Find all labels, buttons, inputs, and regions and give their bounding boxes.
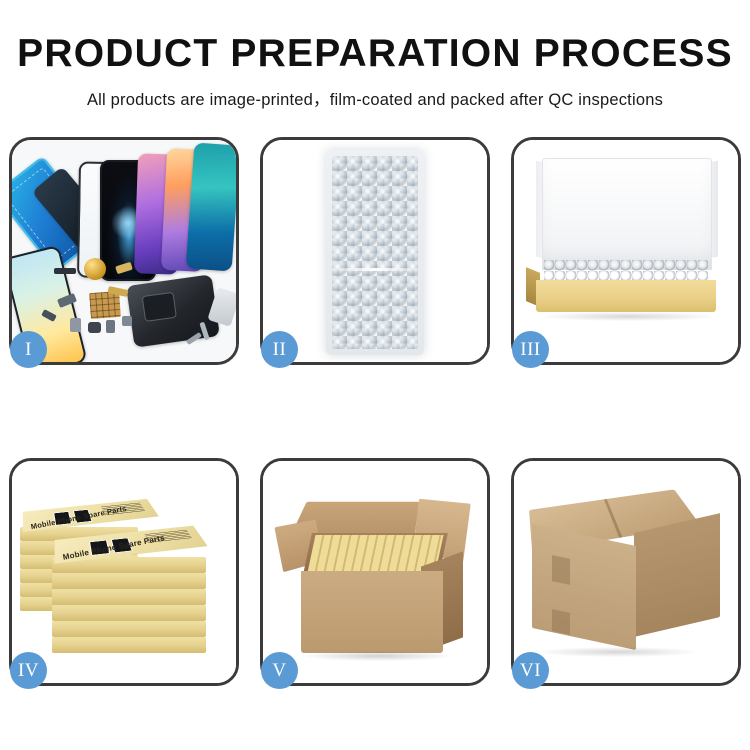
- panel-4-image: Mobile Phone Spare Parts Mobile Phone Sp…: [12, 461, 236, 683]
- phone-parts-illustration: [12, 140, 236, 362]
- sealed-carton-front: [532, 524, 636, 650]
- stacked-box-front-5: [52, 621, 206, 637]
- stacked-box-front-6: [52, 637, 206, 653]
- step-badge-1: I: [10, 331, 47, 368]
- inner-box-lid: [542, 158, 712, 270]
- inner-box-illustration: [514, 140, 738, 362]
- step-badge-4: IV: [10, 652, 47, 689]
- page-header: PRODUCT PREPARATION PROCESS All products…: [0, 0, 750, 110]
- sealed-carton-illustration: [514, 461, 738, 683]
- process-step-grid: I II III: [9, 137, 741, 689]
- step-badge-6: VI: [512, 652, 549, 689]
- carton-top-seam: [604, 499, 623, 538]
- bubble-wrap-illustration: [263, 140, 487, 362]
- carton-front-panel: [301, 571, 443, 653]
- inner-box-shadow: [540, 312, 716, 321]
- process-step-panel-1: I: [9, 137, 239, 365]
- sealed-carton-shadow: [538, 647, 698, 657]
- carton-tape-upper: [552, 555, 570, 585]
- process-step-panel-3: III: [511, 137, 741, 365]
- panel-2-image: [263, 140, 487, 362]
- part-camera-module: [70, 318, 81, 332]
- stacked-box-front-2: [52, 573, 206, 589]
- bubble-texture: [332, 156, 418, 349]
- box-stack-illustration: Mobile Phone Spare Parts Mobile Phone Sp…: [12, 461, 236, 683]
- page-subtitle: All products are image-printed，film-coat…: [0, 76, 750, 110]
- stacked-box-front-3: [52, 589, 206, 605]
- screen-notch: [120, 165, 136, 169]
- pouch-seam: [332, 268, 418, 271]
- part-speaker: [54, 268, 76, 274]
- step-badge-2: II: [261, 331, 298, 368]
- sealed-carton-side: [634, 513, 720, 637]
- page-title: PRODUCT PREPARATION PROCESS: [0, 0, 750, 76]
- process-step-panel-2: II: [260, 137, 490, 365]
- carton-tape-lower: [552, 609, 570, 635]
- process-step-panel-4: Mobile Phone Spare Parts Mobile Phone Sp…: [9, 458, 239, 686]
- part-sensor: [122, 316, 132, 326]
- panel-1-image: [12, 140, 236, 362]
- inner-box-front: [536, 280, 716, 312]
- bubble-wrap-pouch: [326, 150, 424, 355]
- bubble-wrapped-contents: [544, 260, 708, 282]
- teal-gradient-phone: [186, 143, 236, 272]
- carton-shadow: [303, 651, 453, 661]
- part-button: [106, 320, 115, 333]
- panel-3-image: [514, 140, 738, 362]
- chip-component: [89, 291, 121, 319]
- process-step-panel-6: VI: [511, 458, 741, 686]
- step-badge-5: V: [261, 652, 298, 689]
- step-badge-3: III: [512, 331, 549, 368]
- process-step-panel-5: V: [260, 458, 490, 686]
- panel-5-image: [263, 461, 487, 683]
- part-connector: [88, 322, 101, 333]
- panel-6-image: [514, 461, 738, 683]
- gold-round-component: [84, 258, 106, 280]
- stacked-box-front-4: [52, 605, 206, 621]
- open-carton-illustration: [263, 461, 487, 683]
